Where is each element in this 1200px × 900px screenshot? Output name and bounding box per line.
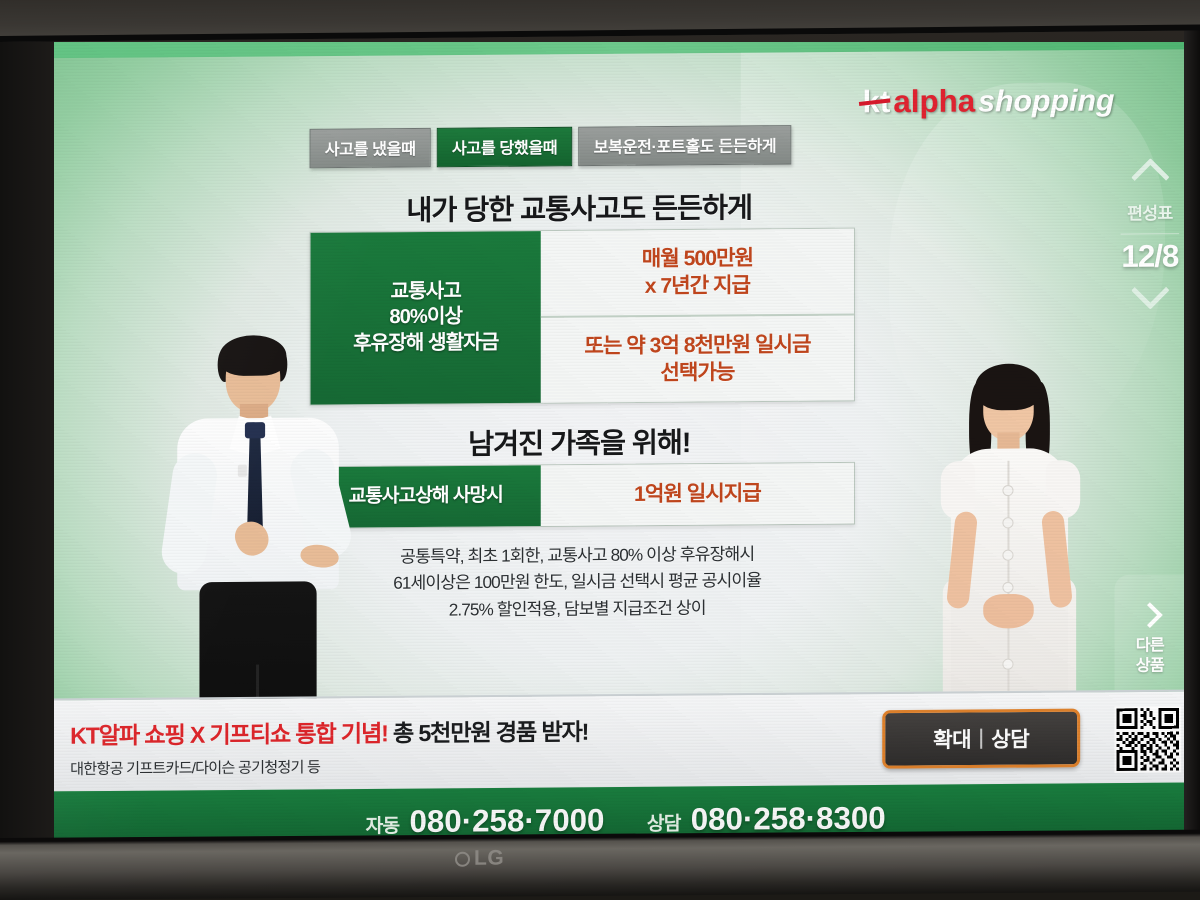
promotion-bar: KT알파 쇼핑 X 기프티쇼 통합 기념! 총 5천만원 경품 받자! 대한항공… [52,689,1188,791]
promotion-subtitle: 대한항공 기프트카드/다이슨 공기청정기 등 [70,754,588,779]
schedule-date: 12/8 [1121,238,1178,275]
benefit-label-line: 80%이상 [389,305,462,331]
promotion-text-group: KT알파 쇼핑 X 기프티쇼 통합 기념! 총 5천만원 경품 받자! 대한항공… [70,712,588,779]
tv-bezel-left [0,30,54,860]
benefit-table-death: 교통사고상해 사망시 1억원 일시지급 [310,462,855,529]
section-heading-family: 남겨진 가족을 위해! [307,420,852,465]
phone-label-consult: 상담 [647,809,681,837]
benefit-value-line: 선택가능 [660,359,734,387]
benefit-value-line: 1억원 일시지급 [634,480,761,509]
benefit-value-death-payout: 1억원 일시지급 [541,463,854,526]
schedule-side-panel: 편성표 12/8 [1106,154,1188,307]
broadcast-content: kt alpha shopping 사고를 냈을때 사고를 당했을때 보복운전·… [52,42,1188,850]
lg-circle-icon [455,851,470,866]
male-presenter [141,320,373,746]
chevron-right-icon [1139,604,1161,626]
benefit-value-line: x 7년간 지급 [645,272,750,300]
television-set: kt alpha shopping 사고를 냈을때 사고를 당했을때 보복운전·… [0,0,1200,900]
male-presenter-badge [238,465,247,477]
benefit-value-line: 또는 약 3억 8천만원 일시금 [584,331,810,360]
tab-accident-caused[interactable]: 사고를 냈을때 [310,128,431,168]
promotion-title: KT알파 쇼핑 X 기프티쇼 통합 기념! 총 5천만원 경품 받자! [70,712,588,750]
category-tabs: 사고를 냈을때 사고를 당했을때 보복운전·포트홀도 든든하게 [310,125,792,168]
expand-consult-button[interactable]: 확대 상담 [882,709,1080,769]
benefit-values-disability: 매월 500만원 x 7년간 지급 또는 약 3억 8천만원 일시금 선택가능 [541,229,854,403]
other-products-button[interactable]: 다른 상품 [1115,574,1186,706]
section-heading-accident: 내가 당한 교통사고도 든든하게 [307,185,852,230]
promotion-title-rest: 총 5천만원 경품 받자! [393,719,588,747]
benefit-value-line: 매월 500만원 [642,244,753,272]
lg-logo: LG [455,846,504,870]
benefit-label-line: 후유장해 생활자금 [353,330,498,357]
logo-shopping-text: shopping [978,84,1114,119]
benefit-value-monthly: 매월 500만원 x 7년간 지급 [541,229,854,316]
chevron-down-icon[interactable] [1133,281,1167,301]
cta-divider [980,729,982,749]
benefit-table-disability: 교통사고 80%이상 후유장해 생활자금 매월 500만원 x 7년간 지급 또… [310,228,855,406]
kt-alpha-shopping-logo: kt alpha shopping [862,82,1114,120]
tab-accident-suffered[interactable]: 사고를 당했을때 [437,127,573,167]
expand-label: 확대 [933,724,971,755]
tv-screen: kt alpha shopping 사고를 냈을때 사고를 당했을때 보복운전·… [52,42,1188,850]
schedule-divider [1121,233,1180,234]
benefit-values-death: 1억원 일시지급 [541,463,854,526]
benefit-value-lumpsum: 또는 약 3억 8천만원 일시금 선택가능 [541,313,854,402]
consult-label: 상담 [991,723,1029,754]
other-products-label-line: 다른 [1136,636,1164,656]
lg-wordmark: LG [474,846,504,870]
female-presenter-hair [975,363,1042,410]
schedule-label: 편성표 [1127,199,1173,225]
male-presenter-hair [220,335,287,376]
logo-alpha-text: alpha [893,83,975,120]
tv-bezel-bottom: LG [0,830,1200,900]
female-presenter [917,355,1109,740]
tv-bezel-right [1184,20,1200,870]
tab-road-rage-pothole[interactable]: 보복운전·포트홀도 든든하게 [578,125,791,166]
other-products-label: 다른 상품 [1136,636,1164,677]
other-products-label-line: 상품 [1136,656,1164,676]
logo-kt-text: kt [862,84,890,121]
chevron-up-icon[interactable] [1133,161,1167,181]
qr-code-icon[interactable] [1115,706,1182,773]
promotion-title-highlight: KT알파 쇼핑 X 기프티쇼 통합 기념! [70,720,387,749]
benefit-label-line: 교통사고 [391,279,461,305]
